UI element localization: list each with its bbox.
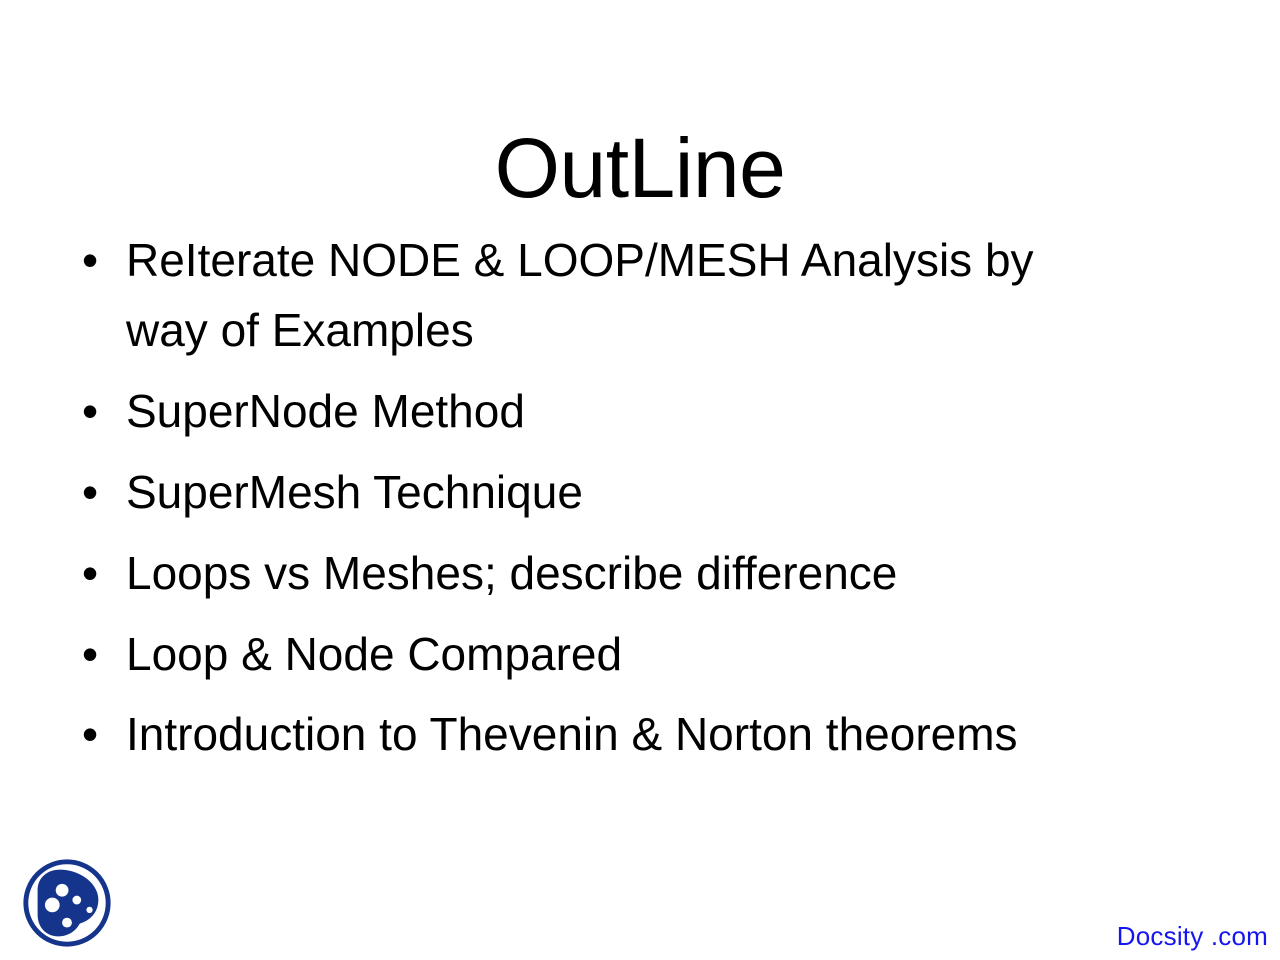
- slide-canvas: OutLine • ReIterate NODE & LOOP/MESH Ana…: [0, 0, 1280, 960]
- list-item-label: Loops vs Meshes; describe difference: [126, 539, 1176, 609]
- bullet-icon: •: [70, 377, 126, 447]
- bullet-icon: •: [70, 226, 126, 296]
- list-item: • Loops vs Meshes; describe difference: [70, 539, 1210, 609]
- bullet-icon: •: [70, 620, 126, 690]
- bullet-icon: •: [70, 539, 126, 609]
- list-item: • SuperMesh Technique: [70, 458, 1210, 528]
- list-item-label: Introduction to Thevenin & Norton theore…: [126, 700, 1176, 770]
- bullet-icon: •: [70, 700, 126, 770]
- list-item: • SuperNode Method: [70, 377, 1210, 447]
- list-item-label: SuperMesh Technique: [126, 458, 1176, 528]
- list-item-label: SuperNode Method: [126, 377, 1176, 447]
- docsity-logo-icon: [18, 854, 116, 952]
- outline-bullet-list: • ReIterate NODE & LOOP/MESH Analysis by…: [70, 226, 1210, 781]
- list-item: • Loop & Node Compared: [70, 620, 1210, 690]
- list-item: • Introduction to Thevenin & Norton theo…: [70, 700, 1210, 770]
- page-title: OutLine: [0, 124, 1280, 212]
- docsity-brand-text: Docsity .com: [1117, 921, 1268, 952]
- list-item: • ReIterate NODE & LOOP/MESH Analysis by…: [70, 226, 1210, 366]
- bullet-icon: •: [70, 458, 126, 528]
- list-item-label: ReIterate NODE & LOOP/MESH Analysis by w…: [126, 226, 1121, 366]
- list-item-label: Loop & Node Compared: [126, 620, 1176, 690]
